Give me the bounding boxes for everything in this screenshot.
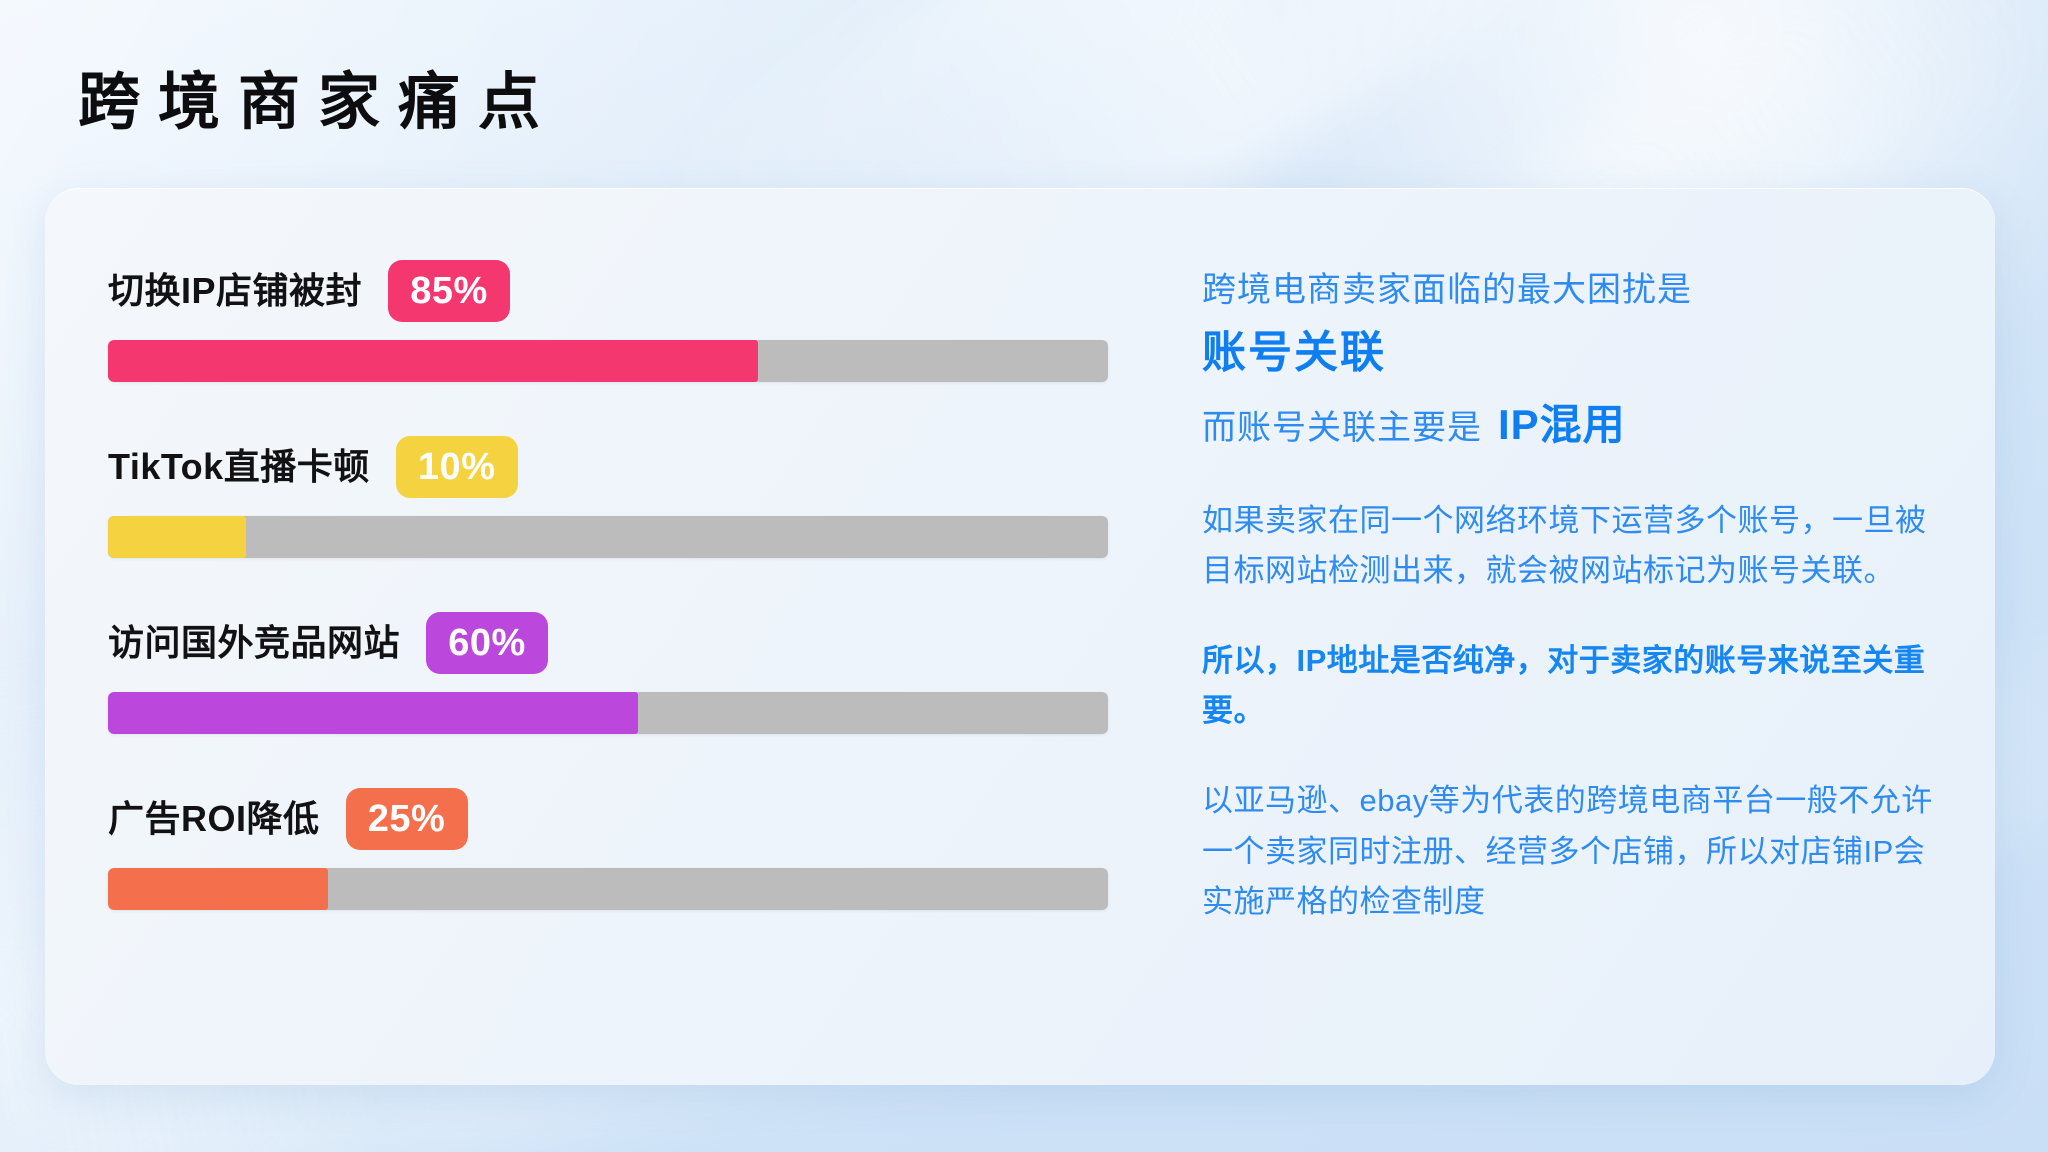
content-card: 切换IP店铺被封 85% TikTok直播卡顿 10% 访问国外竞品网站 <box>45 188 1995 1085</box>
bar-fill <box>108 516 246 558</box>
page-title: 跨境商家痛点 <box>78 72 558 134</box>
lead-text: 跨境电商卖家面临的最大困扰是 <box>1202 266 1935 315</box>
bar-label: TikTok直播卡顿 <box>108 449 370 485</box>
bar-label: 切换IP店铺被封 <box>108 273 362 309</box>
bar-value-badge: 85% <box>388 260 510 322</box>
paragraph-3: 以亚马逊、ebay等为代表的跨境电商平台一般不允许一个卖家同时注册、经营多个店铺… <box>1202 776 1935 927</box>
bar-track <box>108 868 1108 910</box>
bar-label: 广告ROI降低 <box>108 801 320 837</box>
bar-value-badge: 60% <box>426 612 548 674</box>
bar-fill <box>108 692 638 734</box>
chart-row: 切换IP店铺被封 85% <box>108 258 1160 382</box>
bar-fill <box>108 868 328 910</box>
chart-row: 访问国外竞品网站 60% <box>108 610 1160 734</box>
bar-track <box>108 692 1108 734</box>
chart-row: TikTok直播卡顿 10% <box>108 434 1160 558</box>
lead-row-highlight: IP混用 <box>1498 395 1626 456</box>
lead-row: 而账号关联主要是 IP混用 <box>1202 395 1935 456</box>
lead-row-prefix: 而账号关联主要是 <box>1202 404 1482 453</box>
bar-fill <box>108 340 758 382</box>
bar-value-badge: 10% <box>396 436 518 498</box>
chart-row-header: 访问国外竞品网站 60% <box>108 610 1160 676</box>
chart-row-header: TikTok直播卡顿 10% <box>108 434 1160 500</box>
paragraph-1: 如果卖家在同一个网络环境下运营多个账号，一旦被目标网站检测出来，就会被网站标记为… <box>1202 496 1935 596</box>
lead-strong-text: 账号关联 <box>1202 323 1935 382</box>
bar-track <box>108 516 1108 558</box>
bar-label: 访问国外竞品网站 <box>108 625 400 661</box>
paragraph-2: 所以，IP地址是否纯净，对于卖家的账号来说至关重要。 <box>1202 636 1935 736</box>
page-background: 跨境商家痛点 切换IP店铺被封 85% TikTok直播卡顿 10% <box>0 0 2048 1152</box>
bar-track <box>108 340 1108 382</box>
bar-value-badge: 25% <box>346 788 468 850</box>
chart-row-header: 广告ROI降低 25% <box>108 786 1160 852</box>
chart-row-header: 切换IP店铺被封 85% <box>108 258 1160 324</box>
chart-row: 广告ROI降低 25% <box>108 786 1160 910</box>
pain-points-chart: 切换IP店铺被封 85% TikTok直播卡顿 10% 访问国外竞品网站 <box>45 188 1160 1085</box>
explanation-panel: 跨境电商卖家面临的最大困扰是 账号关联 而账号关联主要是 IP混用 如果卖家在同… <box>1160 188 1995 1085</box>
